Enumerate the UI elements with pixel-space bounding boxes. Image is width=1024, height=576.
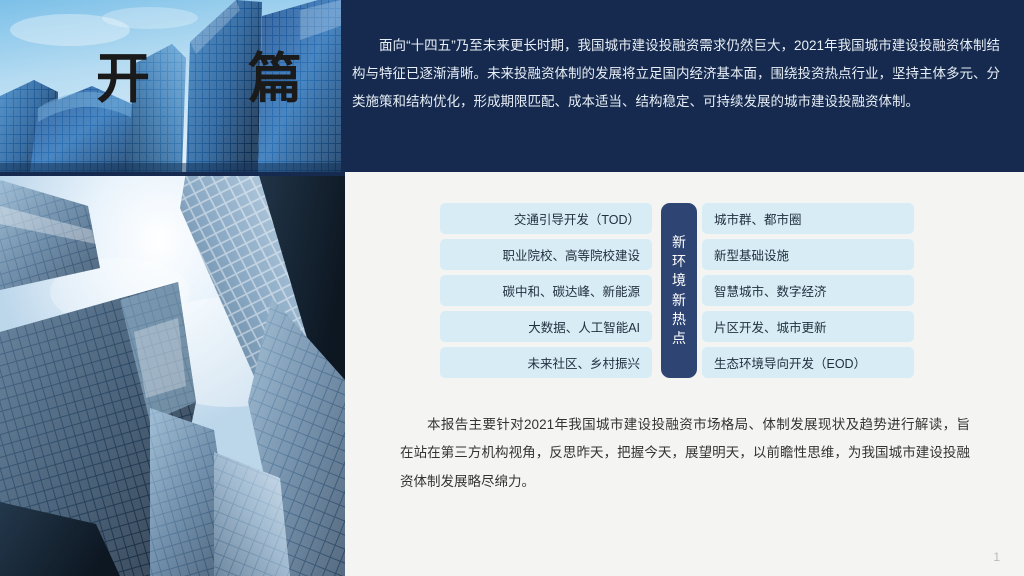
center-char-6: 点 [672,329,686,348]
hotspots-diagram: 交通引导开发（TOD） 职业院校、高等院校建设 碳中和、碳达峰、新能源 大数据、… [440,203,914,378]
right-chip-column: 城市群、都市圈 新型基础设施 智慧城市、数字经济 片区开发、城市更新 生态环境导… [702,203,914,383]
left-chip-column: 交通引导开发（TOD） 职业院校、高等院校建设 碳中和、碳达峰、新能源 大数据、… [440,203,652,383]
chip-left-2[interactable]: 职业院校、高等院校建设 [440,239,652,270]
chip-right-3[interactable]: 智慧城市、数字经济 [702,275,914,306]
chip-right-5[interactable]: 生态环境导向开发（EOD） [702,347,914,378]
summary-paragraph: 本报告主要针对2021年我国城市建设投融资市场格局、体制发展现状及趋势进行解读，… [400,411,970,496]
center-char-2: 环 [672,252,686,271]
chip-left-4[interactable]: 大数据、人工智能AI [440,311,652,342]
page-title: 开 篇 [96,52,324,106]
center-char-3: 境 [672,271,686,290]
bottom-skyline-image [0,172,345,576]
chip-right-4[interactable]: 片区开发、城市更新 [702,311,914,342]
slide: 开 篇 面向“十四五”乃至未来更长时期，我国城市建设投融资需求仍然巨大，2021… [0,0,1024,576]
center-char-5: 热 [672,310,686,329]
center-char-4: 新 [672,291,686,310]
page-number: 1 [993,550,1000,564]
chip-left-3[interactable]: 碳中和、碳达峰、新能源 [440,275,652,306]
chip-left-5[interactable]: 未来社区、乡村振兴 [440,347,652,378]
center-label-pill: 新 环 境 新 热 点 [661,203,697,378]
bottom-skyline-graphic [0,172,345,576]
chip-left-1[interactable]: 交通引导开发（TOD） [440,203,652,234]
chip-right-2[interactable]: 新型基础设施 [702,239,914,270]
intro-paragraph: 面向“十四五”乃至未来更长时期，我国城市建设投融资需求仍然巨大，2021年我国城… [352,32,1000,116]
chip-right-1[interactable]: 城市群、都市圈 [702,203,914,234]
center-char-1: 新 [672,233,686,252]
intro-banner: 面向“十四五”乃至未来更长时期，我国城市建设投融资需求仍然巨大，2021年我国城… [341,0,1024,172]
